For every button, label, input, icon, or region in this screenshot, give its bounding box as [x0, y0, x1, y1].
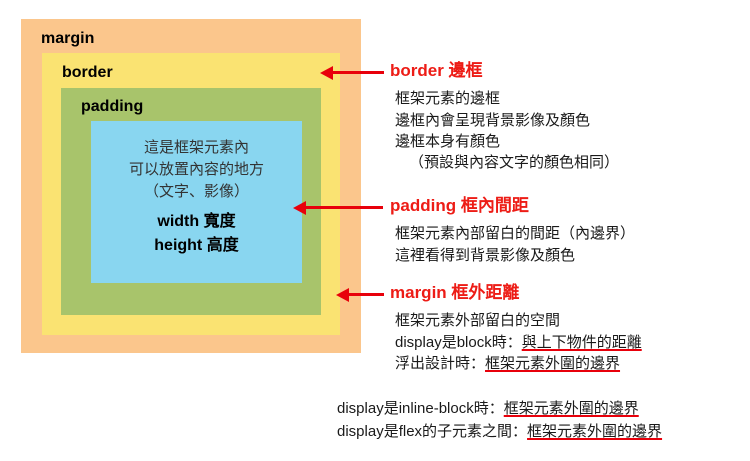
- arrow-to-margin-layer: [348, 293, 384, 296]
- annotation-margin-body: 框架元素外部留白的空間 display是block時：與上下物件的距離 浮出設計…: [390, 310, 642, 374]
- annotation-margin-line-float: 浮出設計時：框架元素外圍的邊界: [395, 353, 642, 374]
- annotation-border: border 邊框 框架元素的邊框 邊框內會呈現背景影像及顏色 邊框本身有顏色 …: [390, 61, 619, 174]
- annotation-border-line: 邊框內會呈現背景影像及顏色: [395, 110, 619, 131]
- margin-layer-label: margin: [41, 31, 94, 47]
- annotation-margin-float-underlined: 框架元素外圍的邊界: [485, 355, 620, 372]
- annotation-padding-line: 框架元素內部留白的間距（內邊界）: [395, 223, 635, 244]
- padding-layer-label: padding: [81, 99, 143, 115]
- content-width-label: width 寬度: [157, 210, 235, 234]
- annotation-padding: padding 框內間距 框架元素內部留白的間距（內邊界） 這裡看得到背景影像及…: [390, 196, 635, 266]
- annotation-border-title: border 邊框: [390, 61, 619, 81]
- extra-line-inline-block: display是inline-block時：框架元素外圍的邊界: [337, 398, 662, 421]
- annotation-margin: margin 框外距離 框架元素外部留白的空間 display是block時：與…: [390, 283, 642, 374]
- content-text-line: 這是框架元素內: [144, 137, 249, 159]
- annotation-border-line: 邊框本身有顏色: [395, 131, 619, 152]
- arrow-to-padding-layer: [305, 206, 383, 209]
- content-height-label: height 高度: [154, 234, 238, 258]
- annotation-border-line: 框架元素的邊框: [395, 88, 619, 109]
- annotation-margin-block-underlined: 與上下物件的距離: [522, 334, 642, 351]
- arrow-to-border-layer: [332, 71, 384, 74]
- margin-layer: margin border padding 這是框架元素內 可以放置內容的地方 …: [21, 19, 361, 353]
- extra-inline-block-prefix: display是inline-block時：: [337, 400, 504, 417]
- extra-flex-underlined: 框架元素外圍的邊界: [527, 423, 662, 440]
- annotation-padding-title: padding 框內間距: [390, 196, 635, 216]
- annotation-margin-float-prefix: 浮出設計時：: [395, 355, 485, 372]
- content-layer: 這是框架元素內 可以放置內容的地方 （文字、影像） width 寬度 heigh…: [91, 121, 302, 283]
- extra-line-flex: display是flex的子元素之間：框架元素外圍的邊界: [337, 421, 662, 444]
- annotation-margin-block-prefix: display是block時：: [395, 334, 522, 351]
- content-text-line: （文字、影像）: [144, 181, 249, 203]
- annotation-border-body: 框架元素的邊框 邊框內會呈現背景影像及顏色 邊框本身有顏色 （預設與內容文字的顏…: [390, 88, 619, 173]
- annotation-border-line: （預設與內容文字的顏色相同）: [395, 152, 619, 173]
- annotation-margin-title: margin 框外距離: [390, 283, 642, 303]
- border-layer-label: border: [62, 65, 113, 81]
- padding-layer: padding 這是框架元素內 可以放置內容的地方 （文字、影像） width …: [61, 88, 321, 315]
- annotation-padding-line: 這裡看得到背景影像及顏色: [395, 245, 635, 266]
- border-layer: border padding 這是框架元素內 可以放置內容的地方 （文字、影像）…: [42, 53, 340, 335]
- extra-flex-prefix: display是flex的子元素之間：: [337, 423, 527, 440]
- extra-inline-block-underlined: 框架元素外圍的邊界: [504, 400, 639, 417]
- box-model-diagram: margin border padding 這是框架元素內 可以放置內容的地方 …: [21, 19, 361, 353]
- annotation-padding-body: 框架元素內部留白的間距（內邊界） 這裡看得到背景影像及顏色: [390, 223, 635, 266]
- annotation-margin-line: 框架元素外部留白的空間: [395, 310, 642, 331]
- extra-display-notes: display是inline-block時：框架元素外圍的邊界 display是…: [337, 398, 662, 443]
- content-text-line: 可以放置內容的地方: [129, 159, 264, 181]
- annotation-margin-line-block: display是block時：與上下物件的距離: [395, 332, 642, 353]
